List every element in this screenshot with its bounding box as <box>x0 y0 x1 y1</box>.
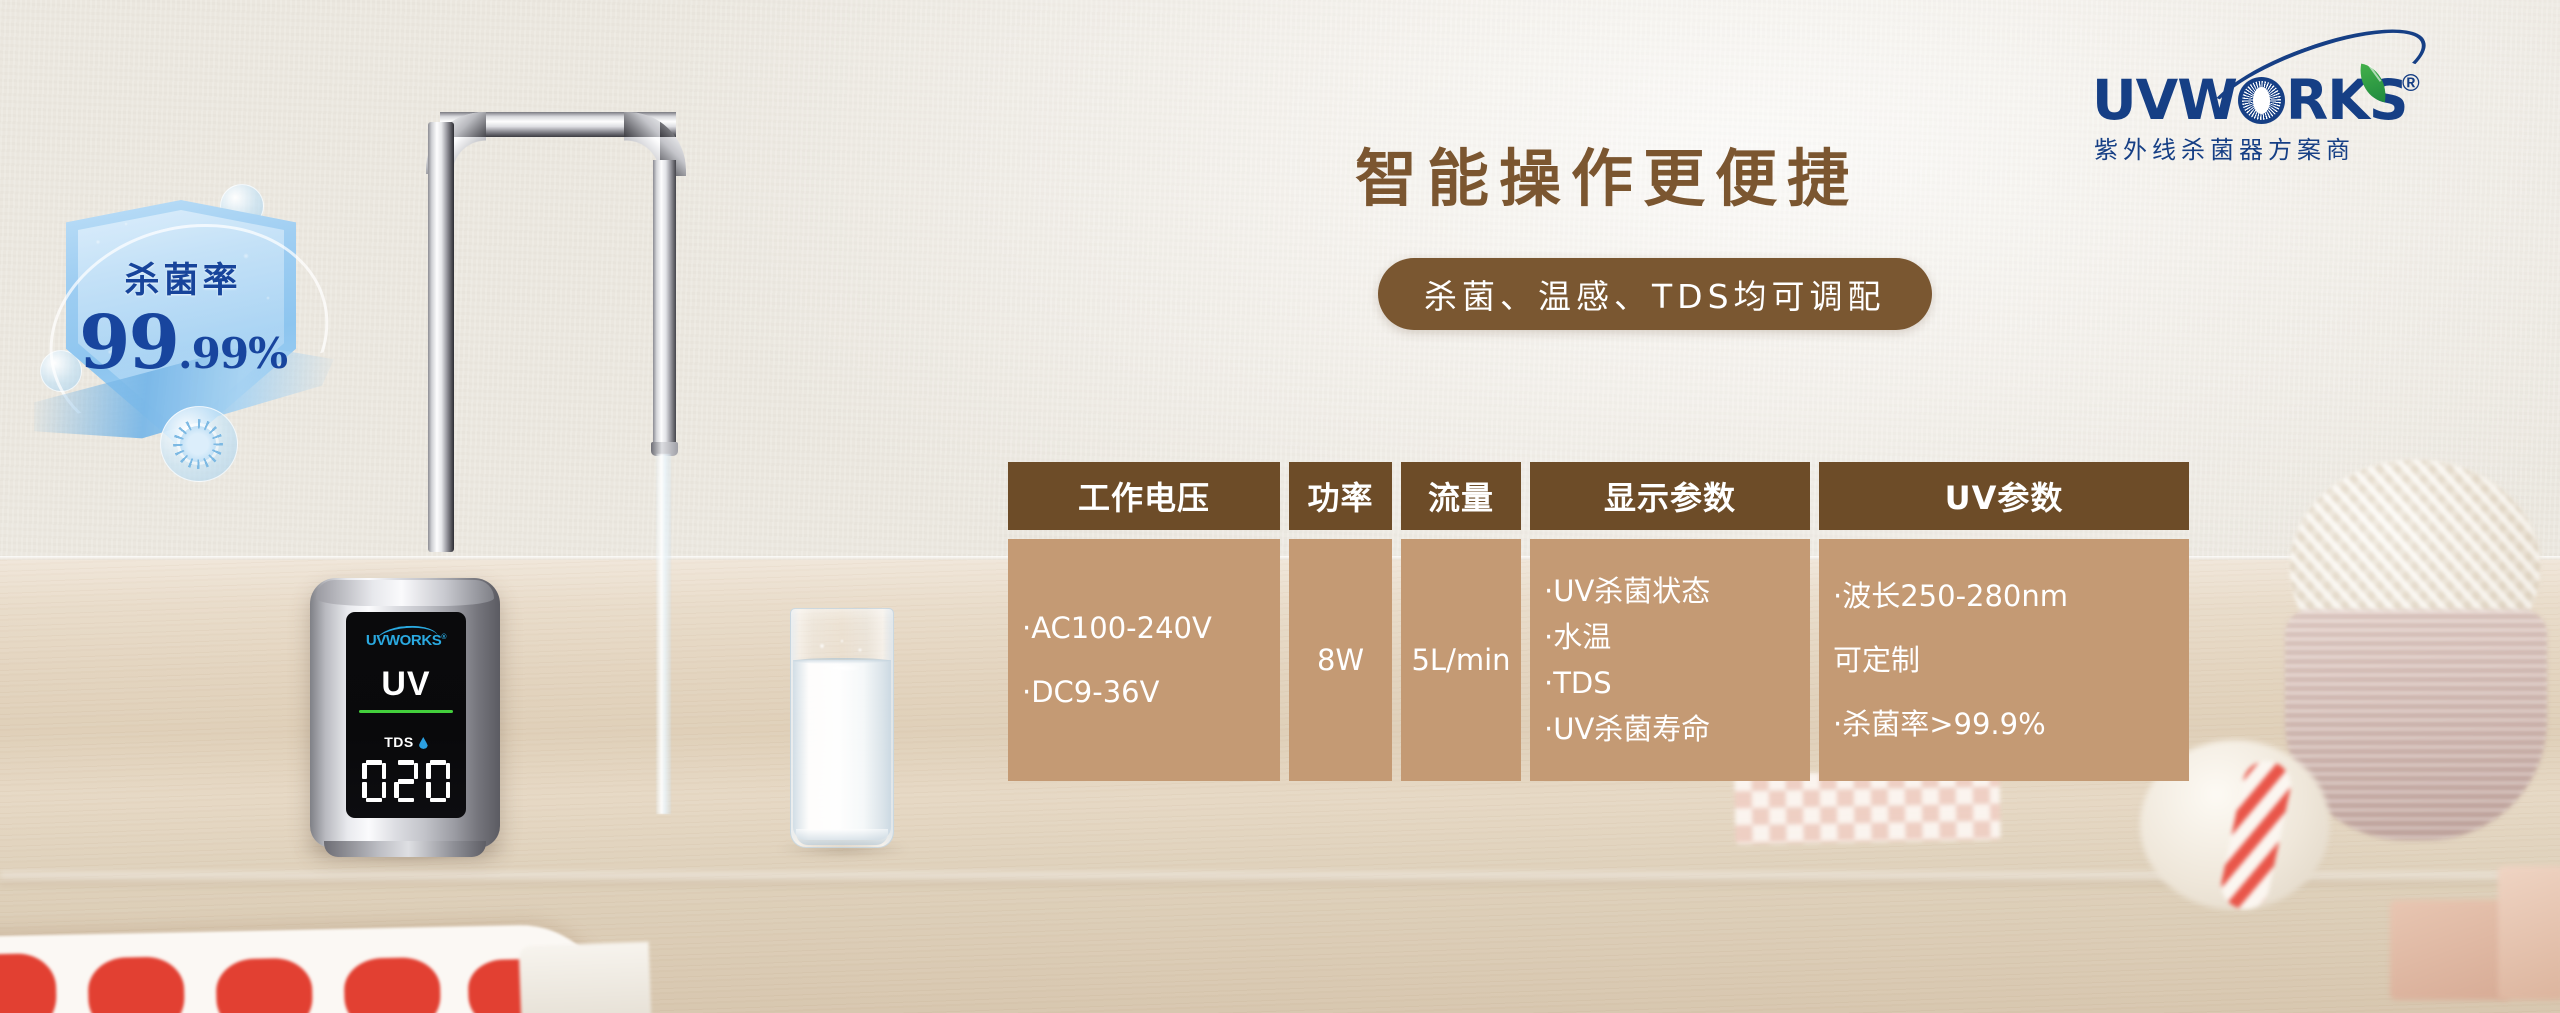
spec-line: 可定制 <box>1833 628 1920 692</box>
device-display-screen: UVWORKS® UV TDS <box>346 612 466 818</box>
banner-stage: UVWORKS® UV TDS <box>0 0 2560 1013</box>
device-mode-label: UV <box>346 664 466 704</box>
badge-value-minor: .99% <box>178 329 287 378</box>
wood-block-2 <box>2498 866 2560 1000</box>
spec-header-flow: 流量 <box>1401 462 1521 530</box>
seg-digit-3 <box>426 760 450 802</box>
faucet-column <box>428 122 454 552</box>
faucet-spout-drop <box>653 160 676 450</box>
brand-logo: UVW RKS ® 紫外线杀菌器方案商 <box>2092 42 2422 158</box>
feature-pill-label: 杀菌、温感、TDS均可调配 <box>1424 270 1886 318</box>
brand-word-part1: UVW <box>2092 68 2237 132</box>
badge-value-major: 99 <box>79 300 178 386</box>
spec-header-display: 显示参数 <box>1530 462 1810 530</box>
white-cloth-fold <box>519 942 652 1013</box>
uv-burst-icon <box>2238 77 2285 124</box>
uv-sterilizer-device: UVWORKS® UV TDS <box>310 578 500 848</box>
spec-line: ·TDS <box>1544 660 1612 706</box>
spec-body-voltage: ·AC100-240V ·DC9-36V <box>1008 539 1280 781</box>
device-tds-sevenseg <box>346 760 466 802</box>
spec-line: 8W <box>1317 637 1364 683</box>
spec-body-uv: ·波长250-280nm 可定制 ·杀菌率>99.9% <box>1819 539 2189 781</box>
spec-column-voltage: 工作电压 ·AC100-240V ·DC9-36V <box>1008 462 1280 781</box>
device-logo-registered: ® <box>441 634 446 641</box>
spec-column-flow: 流量 5L/min <box>1401 462 1521 781</box>
water-splash <box>812 638 872 674</box>
seg-digit-1 <box>362 760 386 802</box>
spec-header-voltage: 工作电压 <box>1008 462 1280 530</box>
wood-block-1 <box>2390 900 2510 1000</box>
spec-header-power: 功率 <box>1289 462 1392 530</box>
spec-line: ·水温 <box>1544 614 1611 660</box>
spec-line: ·UV杀菌寿命 <box>1544 706 1710 752</box>
device-status-line <box>359 710 453 713</box>
spec-body-power: 8W <box>1289 539 1392 781</box>
device-top-cap <box>316 580 494 606</box>
registered-trademark-icon: ® <box>2402 70 2420 98</box>
device-brand-logo: UVWORKS® <box>346 632 466 649</box>
brand-word-part2: RKS <box>2286 68 2408 132</box>
device-base <box>324 841 486 857</box>
spec-line: ·杀菌率>99.9% <box>1833 692 2046 756</box>
badge-value: 99.99% <box>38 300 328 386</box>
spec-column-power: 功率 8W <box>1289 462 1392 781</box>
spec-line: 5L/min <box>1411 637 1510 683</box>
spec-column-uv: UV参数 ·波长250-280nm 可定制 ·杀菌率>99.9% <box>1819 462 2189 781</box>
spec-line: ·波长250-280nm <box>1833 564 2068 628</box>
glass-base <box>796 829 888 845</box>
spec-line: ·UV杀菌状态 <box>1544 568 1710 614</box>
water-stream <box>656 454 671 814</box>
spec-line: ·DC9-36V <box>1022 660 1159 724</box>
sterilization-rate-badge: 杀菌率 99.99% <box>38 178 328 478</box>
device-tds-row: TDS <box>346 734 466 750</box>
device-logo-text: UVWORKS <box>366 632 442 649</box>
glass-water-fill <box>793 660 891 840</box>
page-title: 智能操作更便捷 <box>1355 128 1859 218</box>
spec-body-flow: 5L/min <box>1401 539 1521 781</box>
feature-pill: 杀菌、温感、TDS均可调配 <box>1378 258 1932 330</box>
spec-table: 工作电压 ·AC100-240V ·DC9-36V 功率 8W 流量 5L/mi… <box>1008 462 2189 781</box>
brand-tagline: 紫外线杀菌器方案商 <box>2094 130 2355 165</box>
water-glass <box>790 608 894 848</box>
water-droplet-icon <box>419 737 428 749</box>
spec-line: ·AC100-240V <box>1022 596 1212 660</box>
spec-header-uv: UV参数 <box>1819 462 2189 530</box>
device-tds-label: TDS <box>384 734 414 750</box>
spec-body-display: ·UV杀菌状态 ·水温 ·TDS ·UV杀菌寿命 <box>1530 539 1810 781</box>
seg-digit-2 <box>394 760 418 802</box>
gear-icon <box>180 426 216 462</box>
spec-column-display: 显示参数 ·UV杀菌状态 ·水温 ·TDS ·UV杀菌寿命 <box>1530 462 1810 781</box>
badge-label: 杀菌率 <box>38 252 328 303</box>
